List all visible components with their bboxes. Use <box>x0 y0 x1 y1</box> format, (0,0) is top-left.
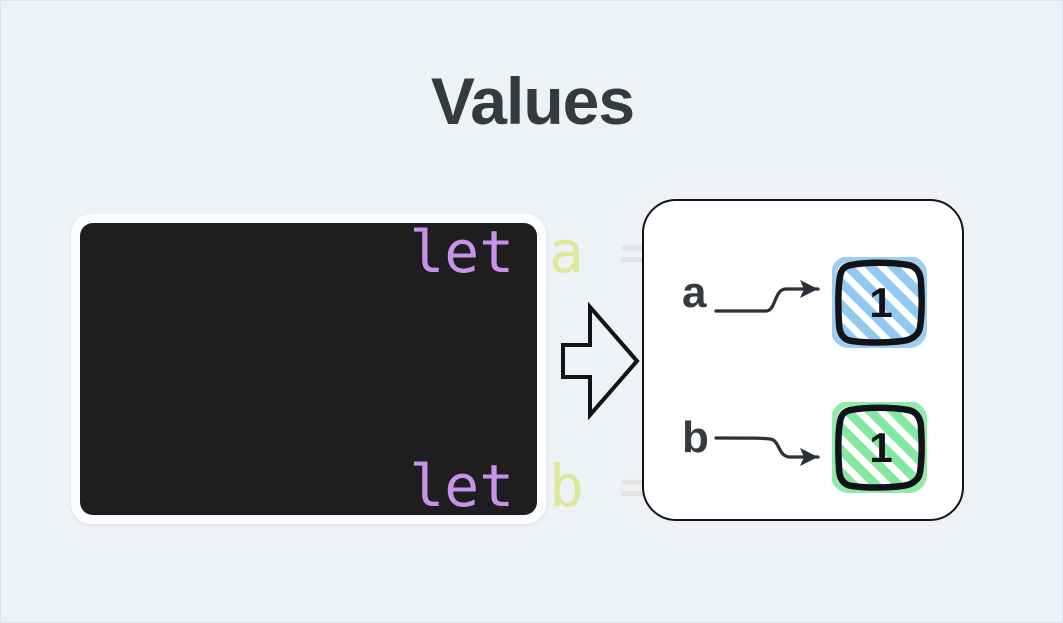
binding-a: a <box>644 249 962 359</box>
code-block: let a = 1; let b = a; <box>80 223 537 515</box>
pointer-arrow-icon <box>714 394 844 504</box>
memory-panel: a <box>642 199 964 521</box>
code-line-2: let b = a; <box>130 369 537 603</box>
value-text-b: 1 <box>869 424 892 471</box>
variable-label-a: a <box>682 271 706 315</box>
block-arrow-right-icon <box>553 301 645 421</box>
code-line-1: let a = 1; <box>130 135 537 369</box>
value-text-a: 1 <box>869 279 892 326</box>
code-token-variable: b <box>549 452 584 520</box>
value-box-a: 1 <box>832 257 930 351</box>
code-token-space <box>584 452 619 520</box>
code-token-keyword: let <box>409 452 514 520</box>
variable-label-b: b <box>682 416 709 460</box>
value-box-b: 1 <box>832 402 930 496</box>
code-token-space <box>584 218 619 286</box>
page-title: Values <box>1 65 1063 138</box>
code-token-space <box>514 218 549 286</box>
code-token-keyword: let <box>409 218 514 286</box>
code-token-variable: a <box>549 218 584 286</box>
pointer-arrow-icon <box>714 249 844 359</box>
code-panel: let a = 1; let b = a; <box>71 214 546 524</box>
code-token-space <box>514 452 549 520</box>
page-root: Values let a = 1; let b = a; a <box>0 0 1063 623</box>
binding-b: b <box>644 394 962 504</box>
